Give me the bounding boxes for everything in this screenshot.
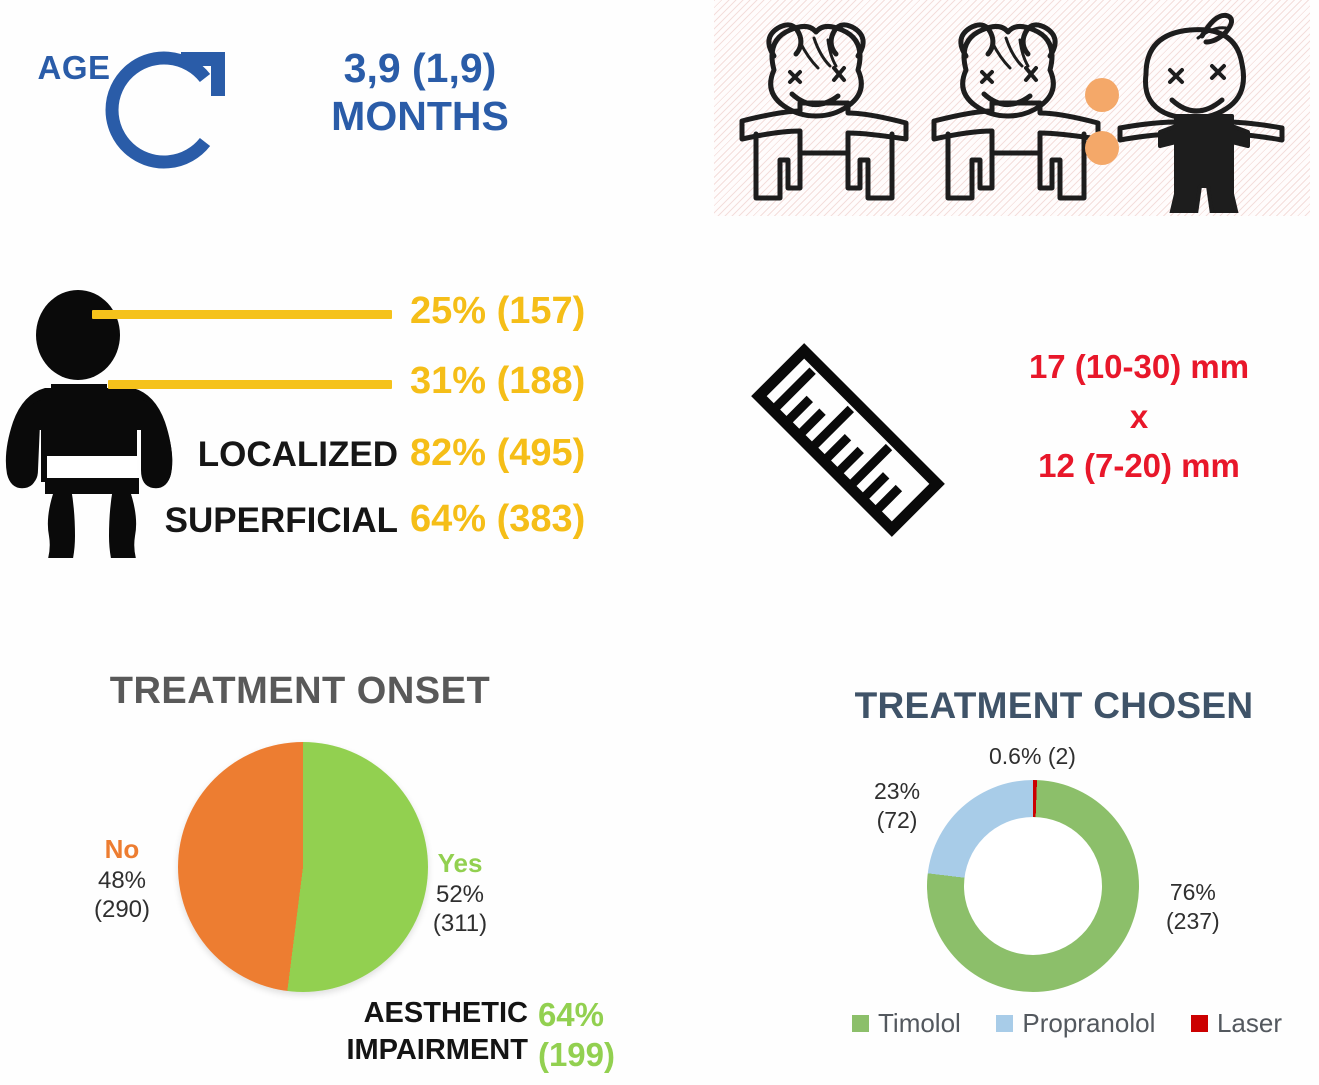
pie-label-yes: Yes 52% (311) [400, 848, 520, 938]
pie-label-no-count: (290) [62, 895, 182, 924]
donut-label-laser: 0.6% (2) [989, 742, 1076, 771]
pie-label-yes-name: Yes [400, 848, 520, 880]
pie-label-no: No 48% (290) [62, 834, 182, 924]
age-value-line1: 3,9 (1,9) [250, 44, 590, 92]
ratio-colon-separator [1085, 78, 1121, 172]
donut-label-timolol-count: (237) [1166, 907, 1220, 936]
pie-label-yes-pct: 52% [400, 880, 520, 909]
donut-label-propranolol-pct: 23% [874, 777, 920, 806]
trunk-location-value: 31% (188) [410, 360, 585, 403]
age-panel: AGE 3,9 (1,9) MONTHS [0, 0, 660, 225]
ratio-dot-top [1085, 78, 1119, 112]
treatment-chosen-panel: TREATMENT CHOSEN 0.6% (2) 23% (72) 76% (… [714, 660, 1319, 1085]
treatment-chosen-donut-chart [927, 780, 1139, 992]
location-panel: 25% (157) 31% (188) LOCALIZED 82% (495) … [0, 280, 660, 580]
legend-entry-propranolol[interactable]: Propranolol [996, 1008, 1155, 1039]
treatment-onset-title: TREATMENT ONSET [0, 670, 600, 713]
trunk-leader-line [108, 380, 392, 389]
localized-value: 82% (495) [410, 432, 585, 475]
aesthetic-impairment-value: 64% (199) [538, 995, 615, 1076]
legend-label-laser: Laser [1217, 1008, 1282, 1039]
size-panel: 17 (10-30) mm x 12 (7-20) mm [714, 320, 1314, 550]
donut-hole [964, 817, 1102, 955]
age-value: 3,9 (1,9) MONTHS [250, 44, 590, 141]
donut-label-propranolol: 23% (72) [874, 777, 920, 835]
ruler-icon [738, 330, 958, 550]
treatment-onset-pie-chart [178, 742, 428, 992]
age-value-line2: MONTHS [250, 92, 590, 140]
size-line-1: 17 (10-30) mm [974, 342, 1304, 392]
ratio-dot-bottom [1085, 131, 1119, 165]
size-value: 17 (10-30) mm x 12 (7-20) mm [974, 342, 1304, 491]
aesthetic-label-line2: IMPAIRMENT [255, 1032, 528, 1069]
sketch-boy-filled-icon [1106, 8, 1296, 213]
legend-swatch-timolol [852, 1015, 869, 1032]
age-icon-text: AGE [0, 0, 136, 136]
aesthetic-value-line2: (199) [538, 1035, 615, 1075]
head-location-value: 25% (157) [410, 290, 585, 333]
superficial-value: 64% (383) [410, 498, 585, 541]
legend-entry-laser[interactable]: Laser [1191, 1008, 1282, 1039]
size-line-3: 12 (7-20) mm [974, 441, 1304, 491]
donut-label-timolol-pct: 76% [1166, 878, 1220, 907]
superficial-label: SUPERFICIAL [120, 501, 398, 541]
pie-label-no-name: No [62, 834, 182, 866]
treatment-chosen-title: TREATMENT CHOSEN [819, 685, 1289, 727]
legend-swatch-laser [1191, 1015, 1208, 1032]
pie-label-no-pct: 48% [62, 866, 182, 895]
size-line-2: x [974, 392, 1304, 442]
legend-swatch-propranolol [996, 1015, 1013, 1032]
legend-label-propranolol: Propranolol [1022, 1008, 1155, 1039]
donut-label-propranolol-count: (72) [874, 806, 920, 835]
sketch-girl-outline-icon-2 [922, 8, 1112, 213]
aesthetic-impairment-row: AESTHETIC IMPAIRMENT 64% (199) [255, 995, 615, 1076]
sketch-girl-outline-icon [730, 8, 920, 213]
pie-label-yes-count: (311) [400, 909, 520, 938]
infographic-page: AGE 3,9 (1,9) MONTHS [0, 0, 1319, 1085]
aesthetic-value-line1: 64% [538, 995, 615, 1035]
treatment-chosen-legend: Timolol Propranolol Laser [852, 1008, 1282, 1039]
donut-label-timolol: 76% (237) [1166, 878, 1220, 936]
legend-label-timolol: Timolol [878, 1008, 961, 1039]
legend-entry-timolol[interactable]: Timolol [852, 1008, 961, 1039]
aesthetic-impairment-label: AESTHETIC IMPAIRMENT [255, 995, 538, 1069]
head-leader-line [92, 310, 392, 319]
sex-ratio-panel [714, 0, 1310, 216]
localized-label: LOCALIZED [150, 435, 398, 475]
aesthetic-label-line1: AESTHETIC [255, 995, 528, 1032]
